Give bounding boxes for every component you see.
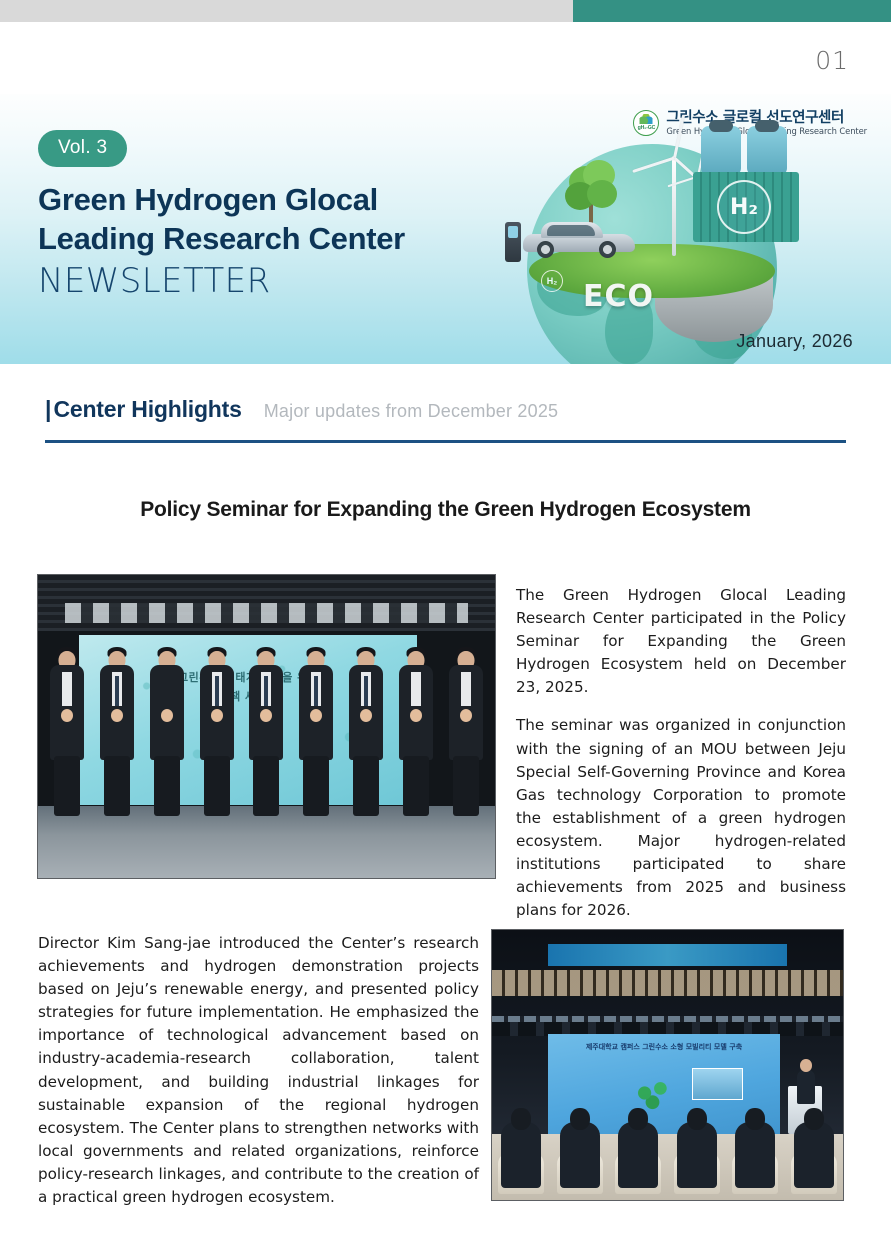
ev-charger-icon bbox=[505, 222, 521, 262]
section-header: | Center Highlights Major updates from D… bbox=[45, 396, 846, 443]
hydrogen-tank-icon bbox=[701, 126, 741, 176]
section-title: Center Highlights bbox=[53, 396, 241, 423]
person-figure bbox=[246, 633, 286, 818]
hero-title-line1: Green Hydrogen Glocal bbox=[38, 180, 405, 219]
hero-title-line2: Leading Research Center bbox=[38, 219, 405, 258]
person-figure bbox=[47, 633, 87, 818]
person-figure bbox=[396, 633, 436, 818]
photo2-ceiling-truss bbox=[492, 970, 843, 996]
top-decoration-bar bbox=[0, 0, 891, 22]
hero-title: Green Hydrogen Glocal Leading Research C… bbox=[38, 180, 405, 258]
photo1-attendees bbox=[47, 633, 486, 818]
person-figure bbox=[147, 633, 187, 818]
audience-figure bbox=[674, 1098, 720, 1194]
eco-illustration: H₂ H₂ ECO bbox=[505, 94, 845, 364]
audience-figure bbox=[498, 1098, 544, 1194]
audience-figure bbox=[557, 1098, 603, 1194]
person-figure bbox=[196, 633, 236, 818]
tank-cap bbox=[709, 120, 733, 132]
topbar-teal-segment bbox=[573, 0, 891, 22]
h2-badge-icon: H₂ bbox=[717, 180, 771, 234]
h2-small-icon: H₂ bbox=[541, 270, 563, 292]
article-left-column: Director Kim Sang-jae introduced the Cen… bbox=[38, 932, 479, 1209]
car-wheel bbox=[599, 241, 616, 258]
issue-date: January, 2026 bbox=[736, 331, 853, 352]
newsletter-page: 01 gH₂-GC 그린수소 글로컬 선도연구센터 Green Hydrogen… bbox=[0, 0, 891, 1260]
hydrogen-tank-icon bbox=[747, 126, 787, 176]
audience-figure bbox=[615, 1098, 661, 1194]
photo2-audience bbox=[492, 1098, 843, 1194]
electric-car-icon bbox=[523, 224, 635, 258]
tree-foliage bbox=[587, 180, 617, 208]
left-paragraph-1: Director Kim Sang-jae introduced the Cen… bbox=[38, 934, 479, 1137]
section-subtitle: Major updates from December 2025 bbox=[264, 401, 559, 422]
person-figure bbox=[97, 633, 137, 818]
topbar-gray-segment bbox=[0, 0, 573, 22]
car-wheel bbox=[537, 241, 554, 258]
page-number: 01 bbox=[815, 46, 849, 75]
seminar-group-photo: 그린수소 생태계 확장을 위한 정책 세미나 bbox=[37, 574, 496, 879]
photo1-ceiling-lights bbox=[65, 603, 467, 623]
person-figure bbox=[445, 633, 485, 818]
tank-cap bbox=[755, 120, 779, 132]
car-window bbox=[547, 225, 595, 236]
eco-word-label: ECO bbox=[583, 279, 654, 314]
audience-figure bbox=[732, 1098, 778, 1194]
audience-figure bbox=[791, 1098, 837, 1194]
photo2-slide-title: 제주대학교 캠퍼스 그린수소 소형 모빌리티 모델 구축 bbox=[548, 1042, 780, 1052]
person-figure bbox=[346, 633, 386, 818]
right-paragraph-1: The Green Hydrogen Glocal Leading Resear… bbox=[516, 584, 846, 699]
section-divider bbox=[45, 440, 846, 443]
photo2-slide-image bbox=[692, 1068, 743, 1100]
article-title: Policy Seminar for Expanding the Green H… bbox=[0, 498, 891, 522]
photo2-upper-display bbox=[548, 944, 787, 966]
person-figure bbox=[296, 633, 336, 818]
hero-subtitle: NEWSLETTER bbox=[38, 261, 271, 301]
turbine-mast bbox=[672, 156, 676, 256]
article-right-column: The Green Hydrogen Glocal Leading Resear… bbox=[516, 584, 846, 922]
hero-banner: gH₂-GC 그린수소 글로컬 선도연구센터 Green Hydrogen Gl… bbox=[0, 94, 891, 364]
right-paragraph-2: The seminar was organized in conjunction… bbox=[516, 714, 846, 922]
volume-badge: Vol. 3 bbox=[38, 130, 127, 167]
section-bar-accent: | bbox=[45, 396, 51, 423]
seminar-presentation-photo: 제주대학교 캠퍼스 그린수소 소형 모빌리티 모델 구축 bbox=[491, 929, 844, 1201]
